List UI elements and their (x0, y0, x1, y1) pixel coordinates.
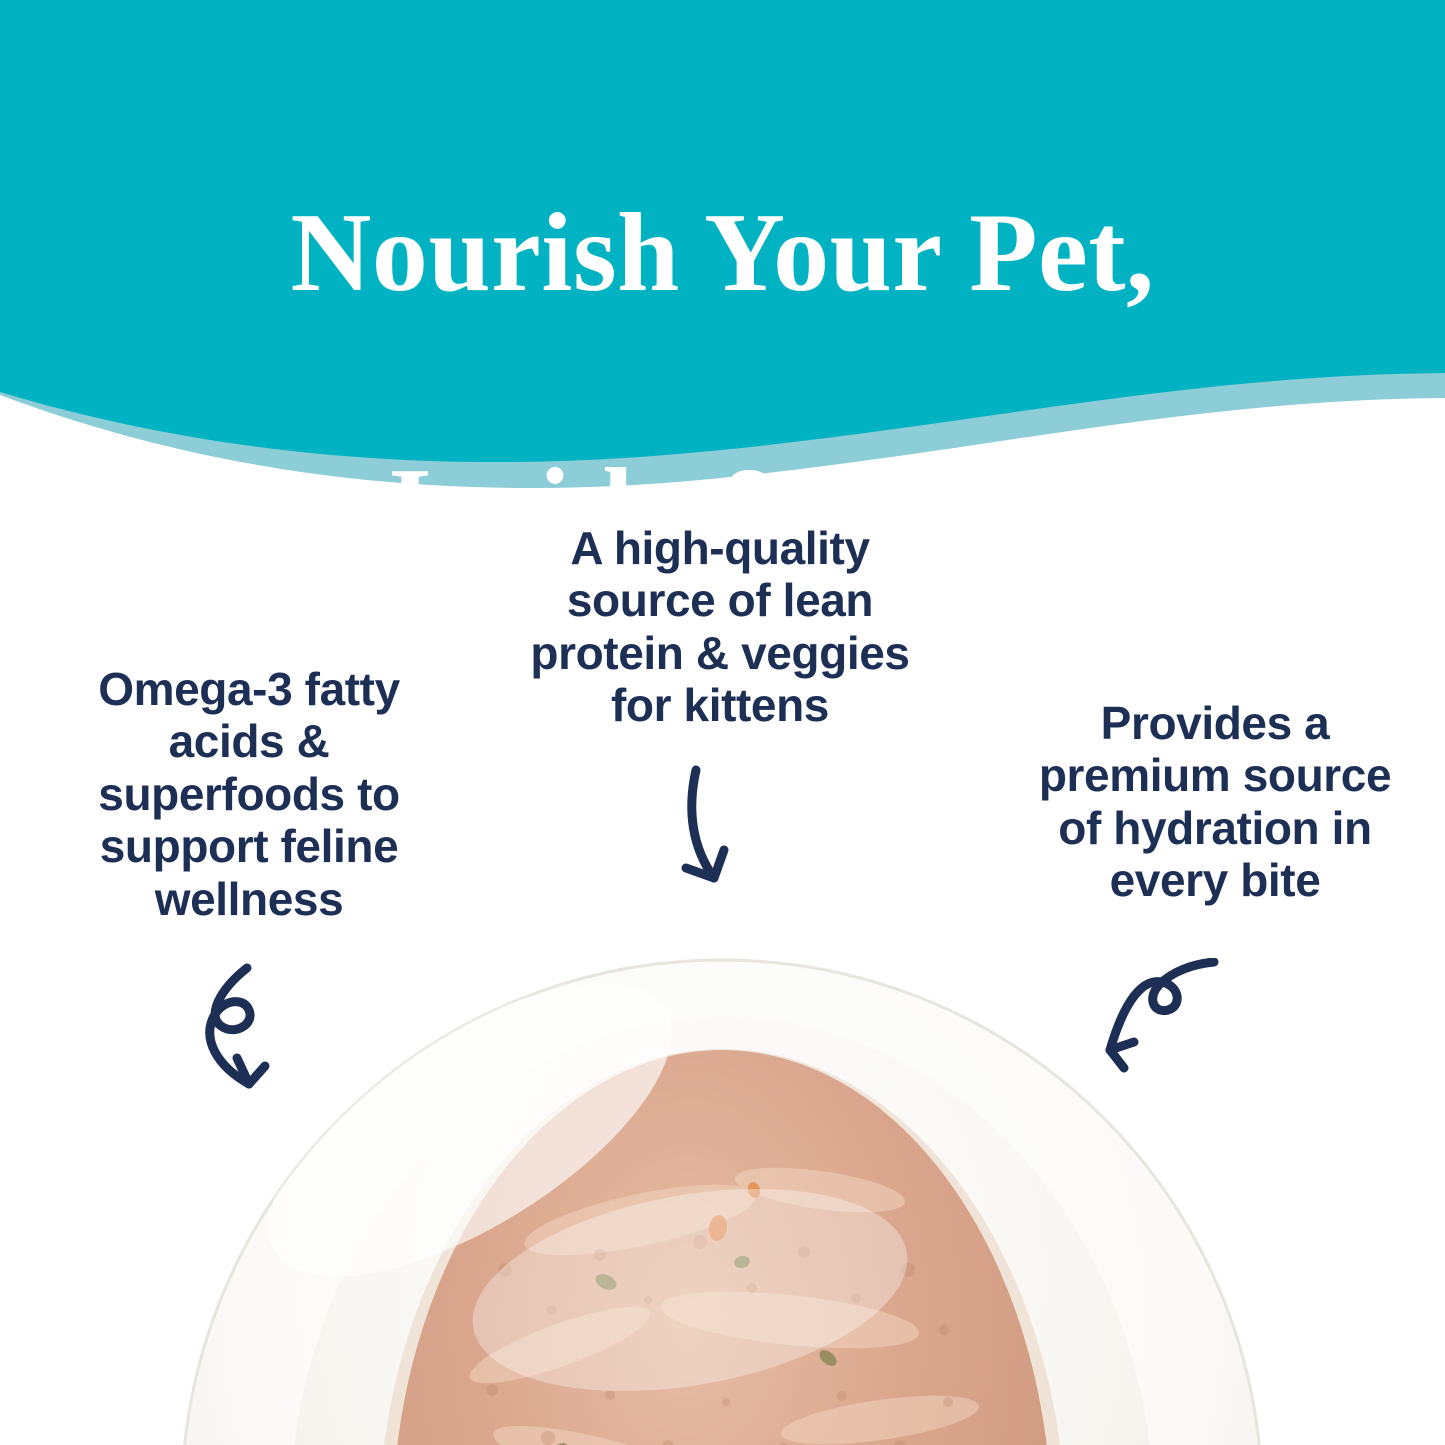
callout-lean-protein: A high-quality source of lean protein & … (460, 522, 980, 732)
headline-line-1: Nourish Your Pet, (290, 191, 1154, 315)
curly-arrow-down-left-icon (1088, 958, 1238, 1093)
marketing-infographic: Nourish Your Pet, Inside & Out™ (0, 0, 1445, 1445)
callout-omega3: Omega-3 fatty acids & superfoods to supp… (14, 663, 484, 925)
headline-line-2: Inside & Out (388, 446, 1023, 500)
page-title: Nourish Your Pet, Inside & Out™ (0, 62, 1445, 500)
trademark-symbol: ™ (1023, 478, 1057, 500)
header-banner: Nourish Your Pet, Inside & Out™ (0, 0, 1445, 500)
callout-hydration: Provides a premium source of hydration i… (990, 697, 1440, 907)
curly-arrow-down-right-icon (183, 962, 353, 1117)
arrow-down-icon (652, 762, 782, 917)
